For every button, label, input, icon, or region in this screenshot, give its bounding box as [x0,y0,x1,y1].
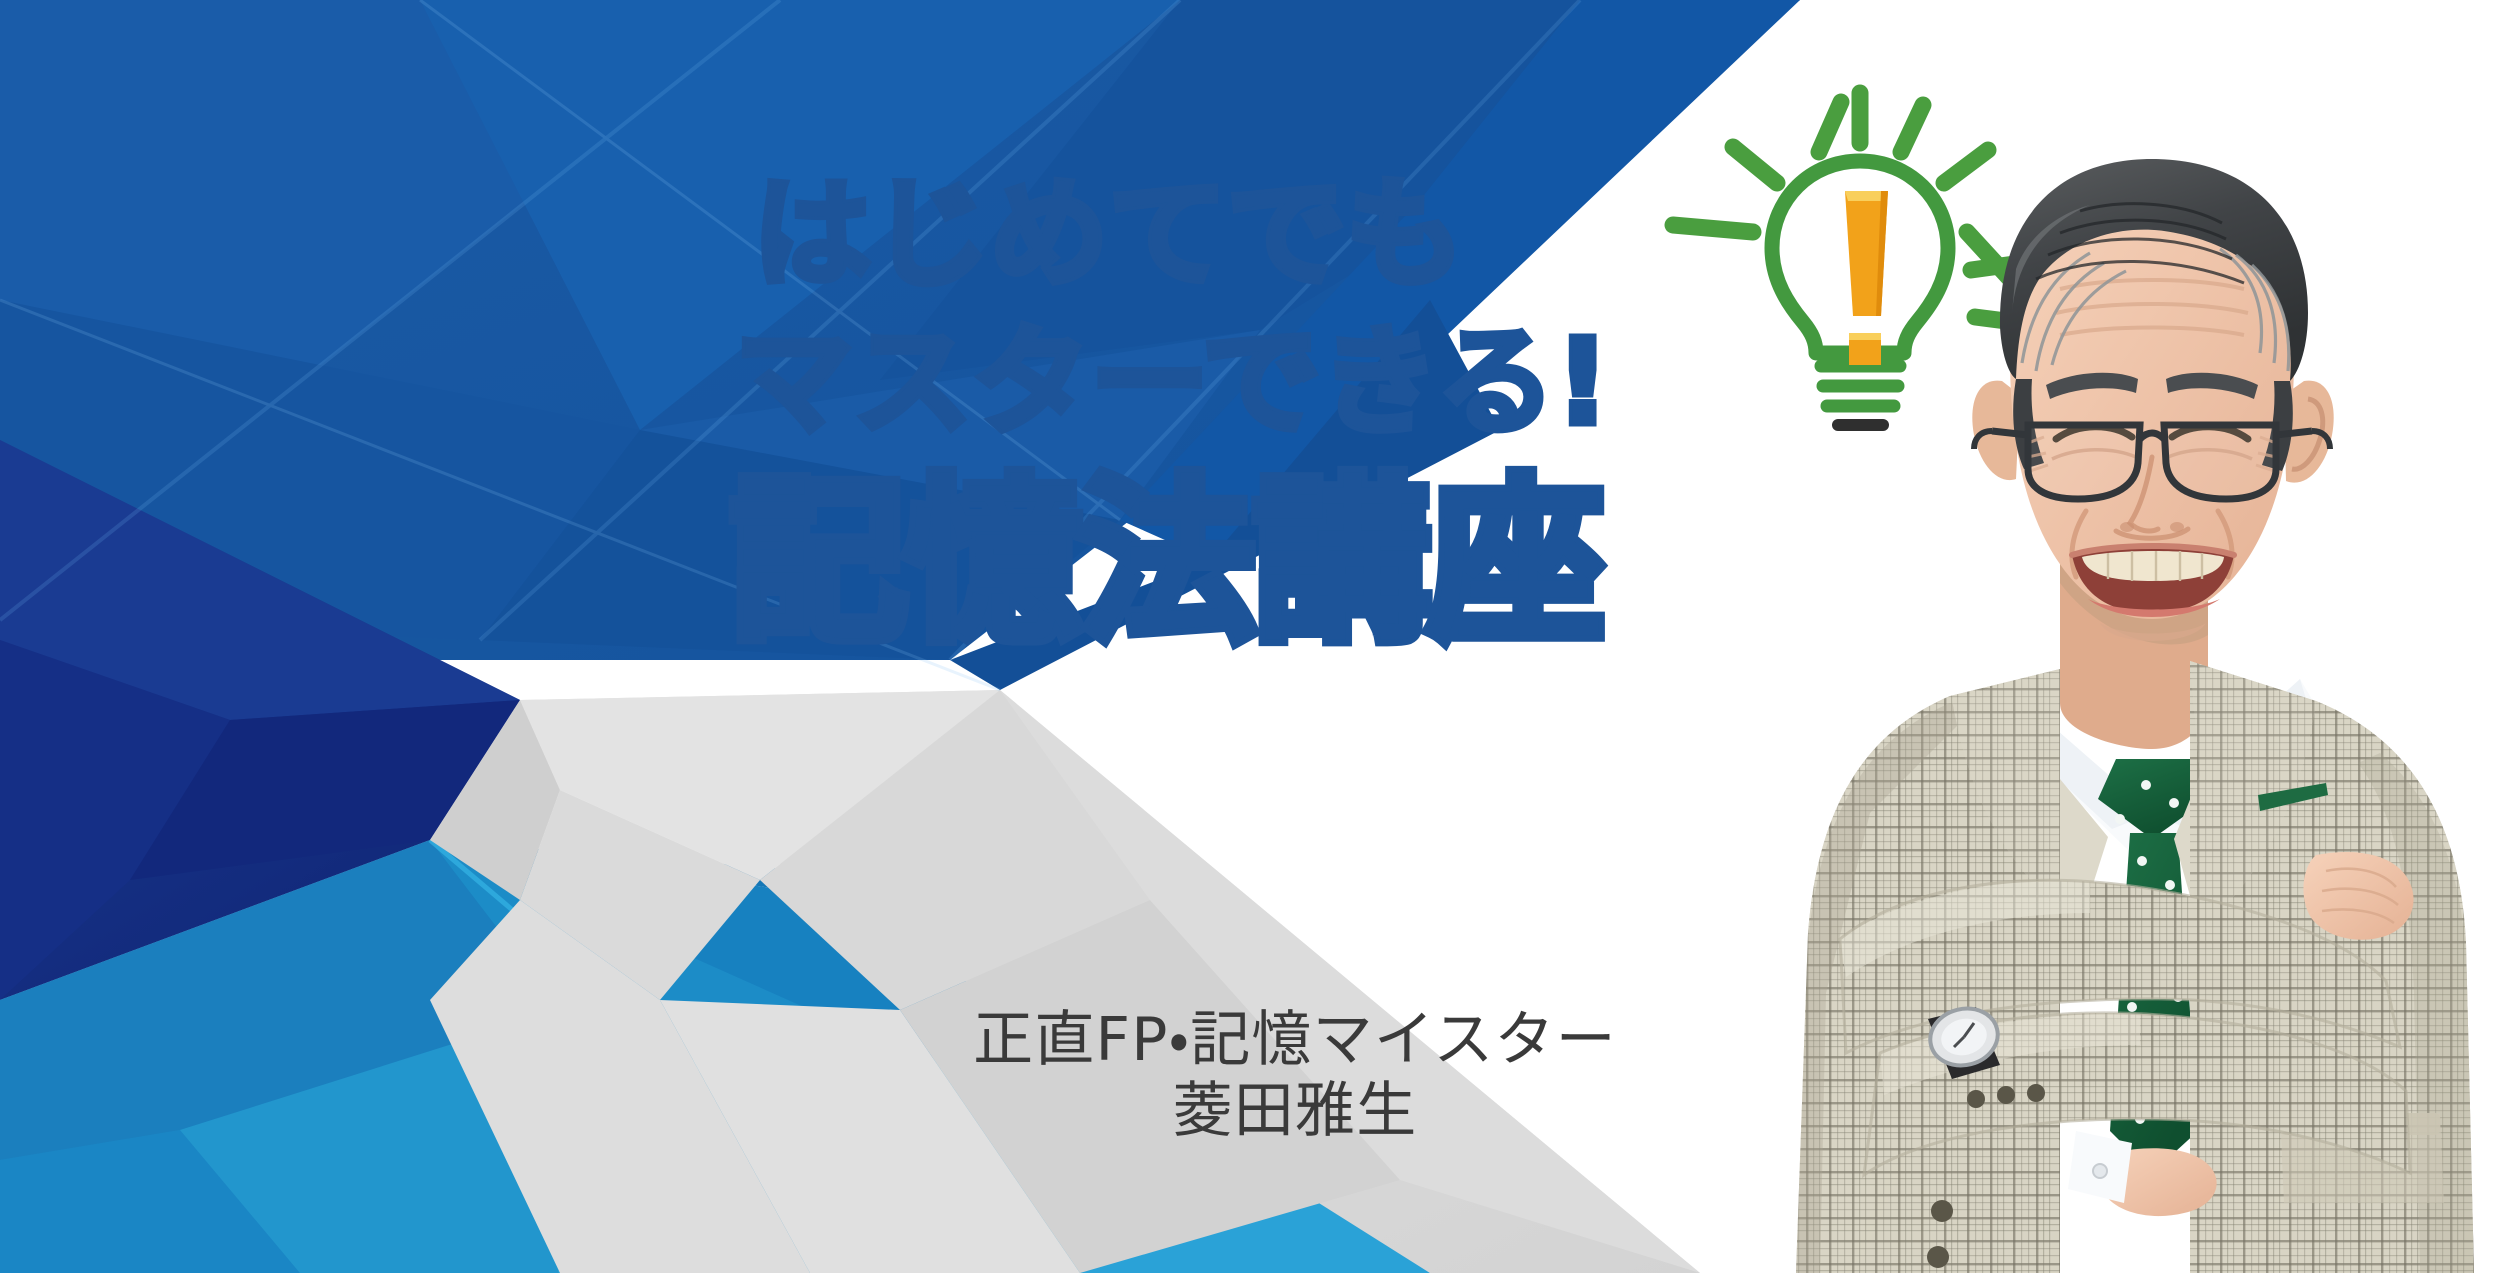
presenter-photo [1760,113,2494,1273]
course-promo-banner: はじめてでも マスターできる! 記憶法講座 正直FP・記憶マイスター 菱田雅生 [0,0,2494,1273]
cuff-link [2093,1164,2107,1178]
